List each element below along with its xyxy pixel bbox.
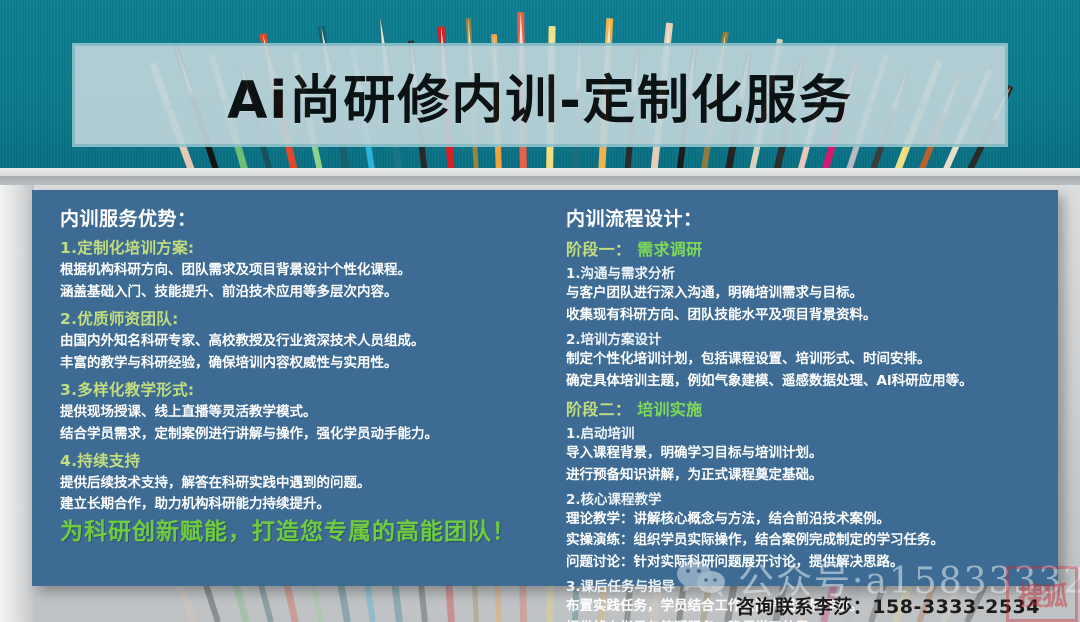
advantage-line: 提供现场授课、线上直播等灵活教学模式。 <box>60 402 534 423</box>
stage-label: 阶段一： <box>566 240 631 259</box>
stage-heading: 阶段一：需求调研 <box>566 236 1048 260</box>
slogan-text: 为科研创新赋能，打造您专属的高能团队！ <box>60 512 516 546</box>
stage-line: 进行预备知识讲解，为正式课程奠定基础。 <box>566 465 1048 486</box>
advantage-line: 丰富的教学与科研经验，确保培训内容权威性与实用性。 <box>60 353 534 374</box>
stage-name: 培训实施 <box>637 400 702 419</box>
advantage-line: 提供后续技术支持，解答在科研实践中遇到的问题。 <box>60 473 534 494</box>
poster-root: Ai尚研修内训-定制化服务 内训服务优势： 1.定制化培训方案:根据机构科研方向… <box>0 0 1080 622</box>
stage-heading: 阶段二：培训实施 <box>566 396 1048 420</box>
stage-line: 确定具体培训主题，例如气象建模、遥感数据处理、Al科研应用等。 <box>566 371 1048 392</box>
content-panel: 内训服务优势： 1.定制化培训方案:根据机构科研方向、团队需求及项目背景设计个性… <box>32 190 1058 586</box>
advantages-heading: 内训服务优势： <box>60 204 534 231</box>
corner-stamp: 搜狐 <box>1006 566 1078 622</box>
process-column: 内训流程设计： 阶段一：需求调研1.沟通与需求分析与客户团队进行深入沟通，明确培… <box>544 190 1058 586</box>
advantage-heading: 4.持续支持 <box>60 449 534 471</box>
stage-line: 与客户团队进行深入沟通，明确培训需求与目标。 <box>566 283 1048 304</box>
corner-stamp-text: 搜狐 <box>1009 569 1075 619</box>
process-heading: 内训流程设计： <box>566 204 1048 231</box>
title-banner: Ai尚研修内训-定制化服务 <box>72 43 1008 147</box>
contact-line: 咨询联系李莎：158-3333-2534 <box>0 592 1040 619</box>
stage-line: 导入课程背景，明确学习目标与培训计划。 <box>566 443 1048 464</box>
stage-subheading: 2.核心课程教学 <box>566 488 1048 508</box>
advantage-line: 根据机构科研方向、团队需求及项目背景设计个性化课程。 <box>60 260 534 281</box>
page-title: Ai尚研修内训-定制化服务 <box>227 58 853 133</box>
advantage-heading: 1.定制化培训方案: <box>60 236 534 258</box>
stage-line: 实操演练：组织学员实际操作，结合案例完成制定的学习任务。 <box>566 530 1048 551</box>
stage-label: 阶段二： <box>566 400 631 419</box>
stage-name: 需求调研 <box>637 240 702 259</box>
advantage-heading: 2.优质师资团队: <box>60 307 534 329</box>
stage-line: 收集现有科研方向、团队技能水平及项目背景资料。 <box>566 305 1048 326</box>
stage-line: 理论教学：讲解核心概念与方法，结合前沿技术案例。 <box>566 509 1048 530</box>
stage-subheading: 2.培训方案设计 <box>566 328 1048 348</box>
stage-line: 问题讨论：针对实际科研问题展开讨论，提供解决思路。 <box>566 552 1048 573</box>
stage-subheading: 1.沟通与需求分析 <box>566 262 1048 282</box>
stage-line: 制定个性化培训计划，包括课程设置、培训形式、时间安排。 <box>566 349 1048 370</box>
stage-subheading: 1.启动培训 <box>566 422 1048 442</box>
paper-left-fold <box>0 185 34 622</box>
advantage-line: 由国内外知名科研专家、高校教授及行业资深技术人员组成。 <box>60 331 534 352</box>
advantage-line: 涵盖基础入门、技能提升、前沿技术应用等多层次内容。 <box>60 282 534 303</box>
advantage-heading: 3.多样化教学形式: <box>60 378 534 400</box>
advantage-line: 结合学员需求，定制案例进行讲解与操作，强化学员动手能力。 <box>60 424 534 445</box>
